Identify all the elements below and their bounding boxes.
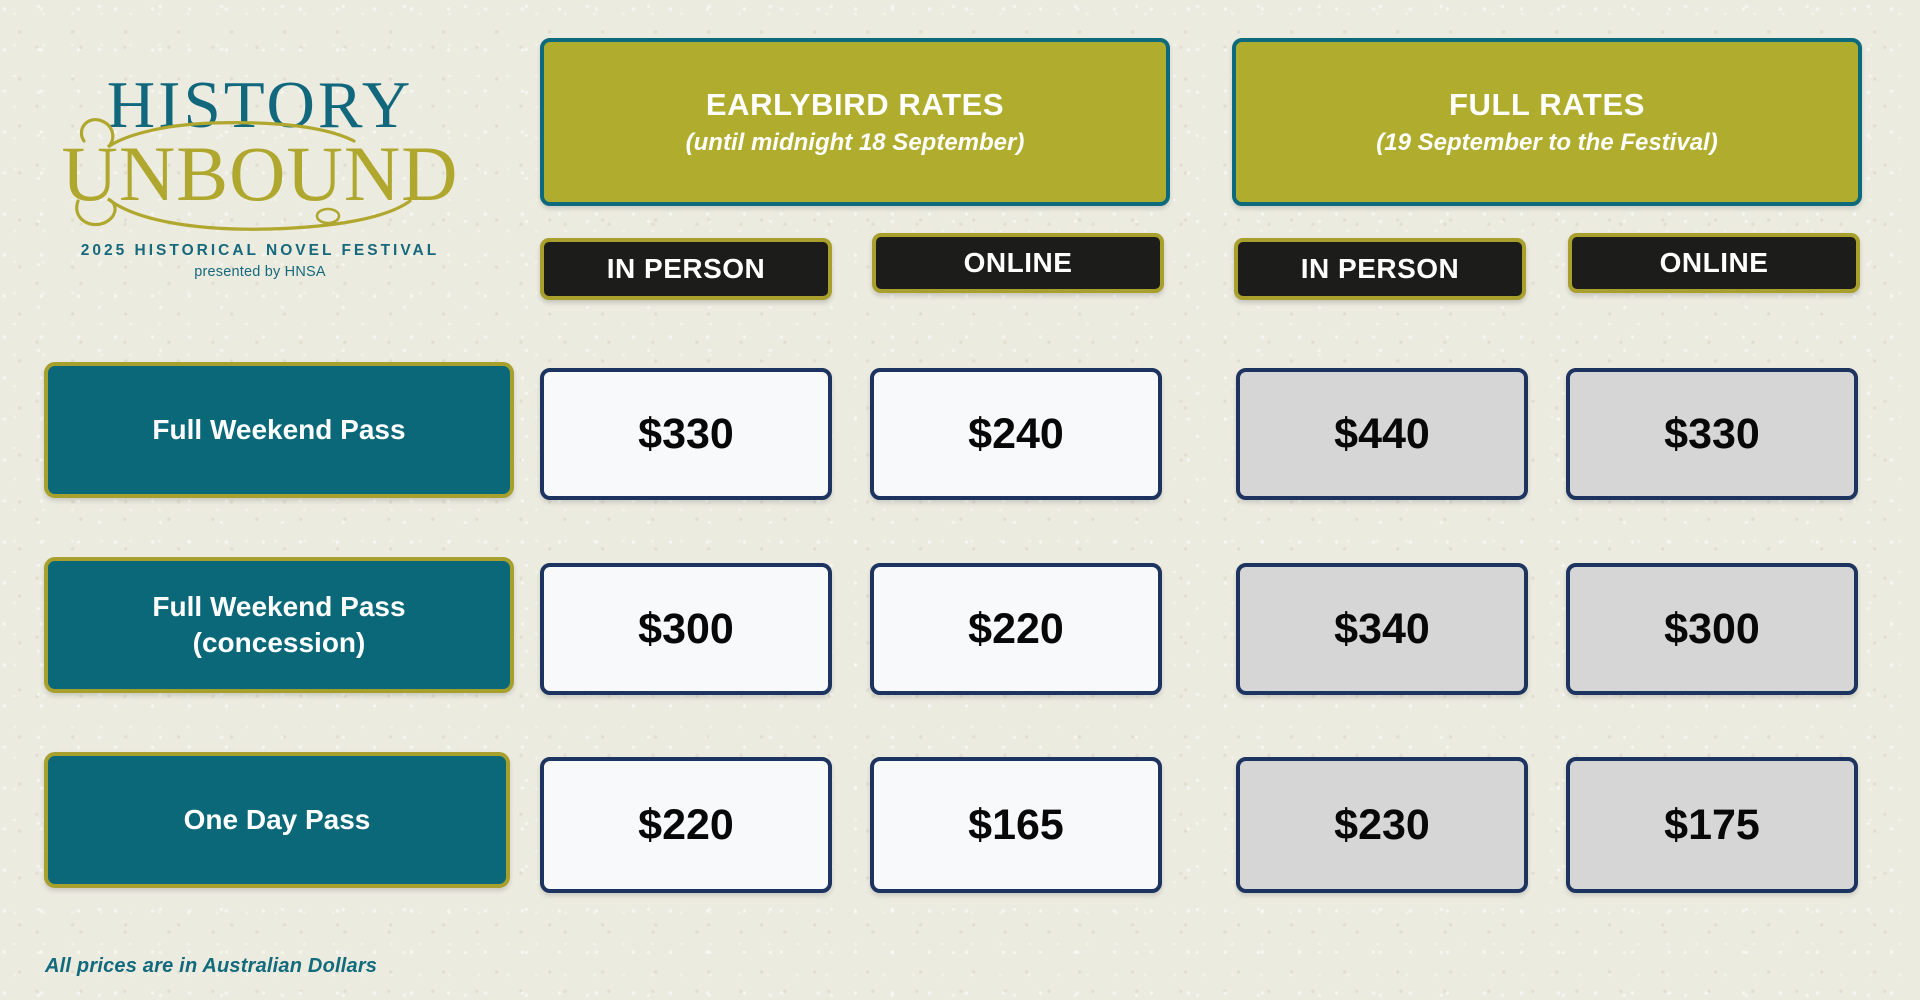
logo-word-history: HISTORY — [60, 72, 460, 139]
rate-group-header-earlybird: EARLYBIRD RATES (until midnight 18 Septe… — [540, 38, 1170, 206]
price-cell-r1-c3: $300 — [1566, 563, 1858, 695]
price-cell-r0-c2: $440 — [1236, 368, 1528, 500]
row-label-line2: (concession) — [152, 625, 405, 661]
row-label-full-weekend-pass-concession[interactable]: Full Weekend Pass (concession) — [44, 557, 514, 693]
price-cell-r1-c2: $340 — [1236, 563, 1528, 695]
logo-presented-by: presented by HNSA — [60, 264, 460, 280]
row-label-one-day-pass[interactable]: One Day Pass — [44, 752, 510, 888]
column-header-full-in-person[interactable]: IN PERSON — [1234, 238, 1526, 300]
rate-group-title: FULL RATES — [1449, 88, 1645, 122]
festival-logo: HISTORY UNBOUND 2025 HISTORICAL NOVEL FE… — [60, 60, 460, 310]
logo-word-unbound: UNBOUND — [60, 133, 460, 215]
price-cell-r2-c2: $230 — [1236, 757, 1528, 893]
price-cell-r1-c0: $300 — [540, 563, 832, 695]
price-cell-r2-c3: $175 — [1566, 757, 1858, 893]
logo-tagline: 2025 HISTORICAL NOVEL FESTIVAL — [60, 242, 460, 260]
rate-group-subtitle: (until midnight 18 September) — [686, 130, 1025, 156]
price-cell-r0-c3: $330 — [1566, 368, 1858, 500]
row-label-text-block: Full Weekend Pass (concession) — [152, 589, 405, 661]
column-header-full-online[interactable]: ONLINE — [1568, 233, 1860, 293]
currency-note: All prices are in Australian Dollars — [45, 955, 377, 978]
price-cell-r0-c0: $330 — [540, 368, 832, 500]
price-cell-r1-c1: $220 — [870, 563, 1162, 695]
pricing-sheet: HISTORY UNBOUND 2025 HISTORICAL NOVEL FE… — [0, 0, 1920, 1000]
row-label-line1: Full Weekend Pass — [152, 589, 405, 625]
rate-group-subtitle: (19 September to the Festival) — [1376, 130, 1717, 156]
rate-group-title: EARLYBIRD RATES — [706, 88, 1004, 122]
column-header-earlybird-online[interactable]: ONLINE — [872, 233, 1164, 293]
column-header-earlybird-in-person[interactable]: IN PERSON — [540, 238, 832, 300]
price-cell-r2-c1: $165 — [870, 757, 1162, 893]
logo-unbound-wrapper: UNBOUND — [60, 133, 460, 225]
price-cell-r2-c0: $220 — [540, 757, 832, 893]
row-label-text: Full Weekend Pass — [152, 412, 405, 448]
row-label-text: One Day Pass — [184, 802, 371, 838]
rate-group-header-full: FULL RATES (19 September to the Festival… — [1232, 38, 1862, 206]
price-cell-r0-c1: $240 — [870, 368, 1162, 500]
row-label-full-weekend-pass[interactable]: Full Weekend Pass — [44, 362, 514, 498]
